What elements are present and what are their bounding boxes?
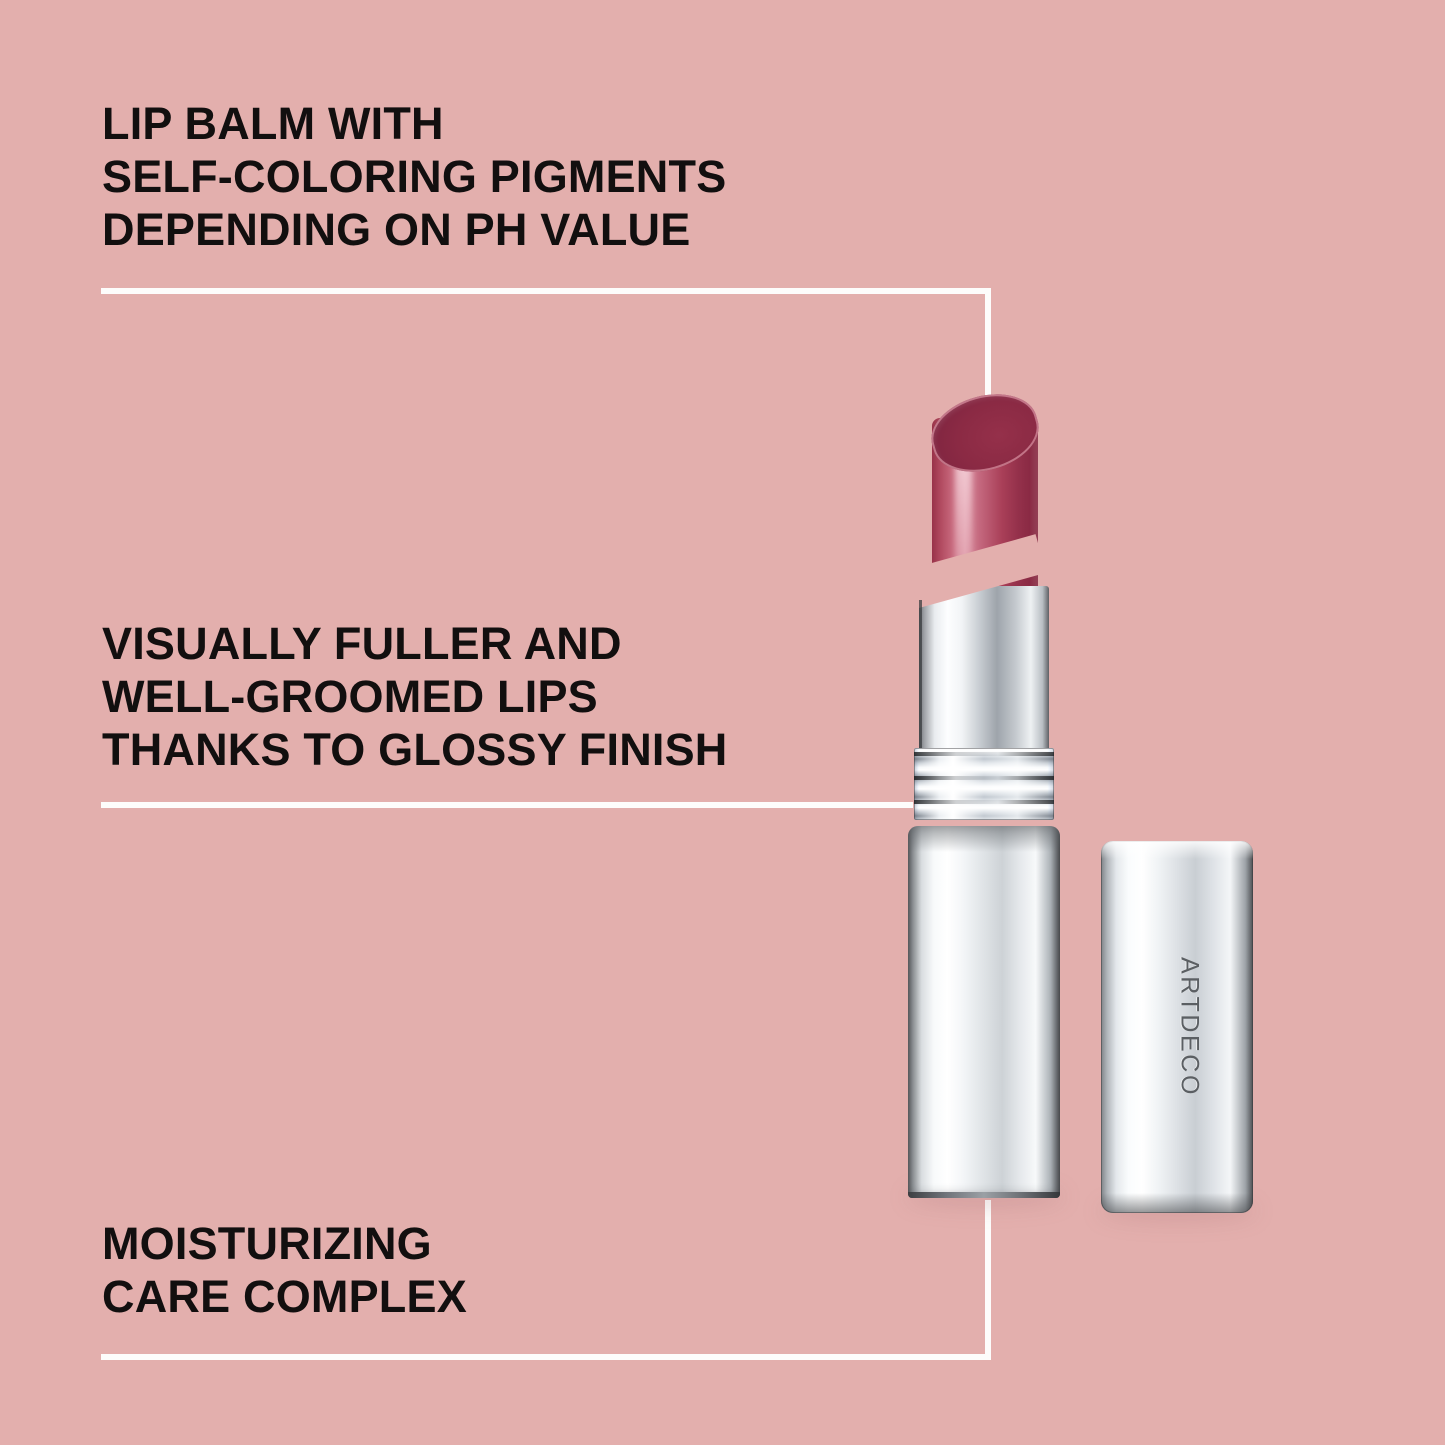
tube-base-bottom-edge [908, 1192, 1060, 1198]
product-image-lipstick: ARTDECO [0, 0, 1445, 1445]
cap-top-highlight [1101, 841, 1253, 859]
collar-groove-1 [914, 752, 1054, 756]
cap-bottom-shadow [1101, 1193, 1253, 1213]
tube-base [908, 826, 1060, 1198]
chrome-sleeve [919, 586, 1049, 758]
tube-base-top-shading [908, 826, 1060, 852]
brand-logo-artdeco: ARTDECO [1175, 957, 1204, 1097]
product-cap: ARTDECO [1101, 841, 1253, 1213]
ridged-collar [914, 748, 1054, 820]
collar-groove-2 [914, 776, 1054, 780]
collar-groove-3 [914, 800, 1054, 804]
infographic-canvas: LIP BALM WITH SELF-COLORING PIGMENTS DEP… [0, 0, 1445, 1445]
chrome-sleeve-left-edge [919, 600, 922, 760]
